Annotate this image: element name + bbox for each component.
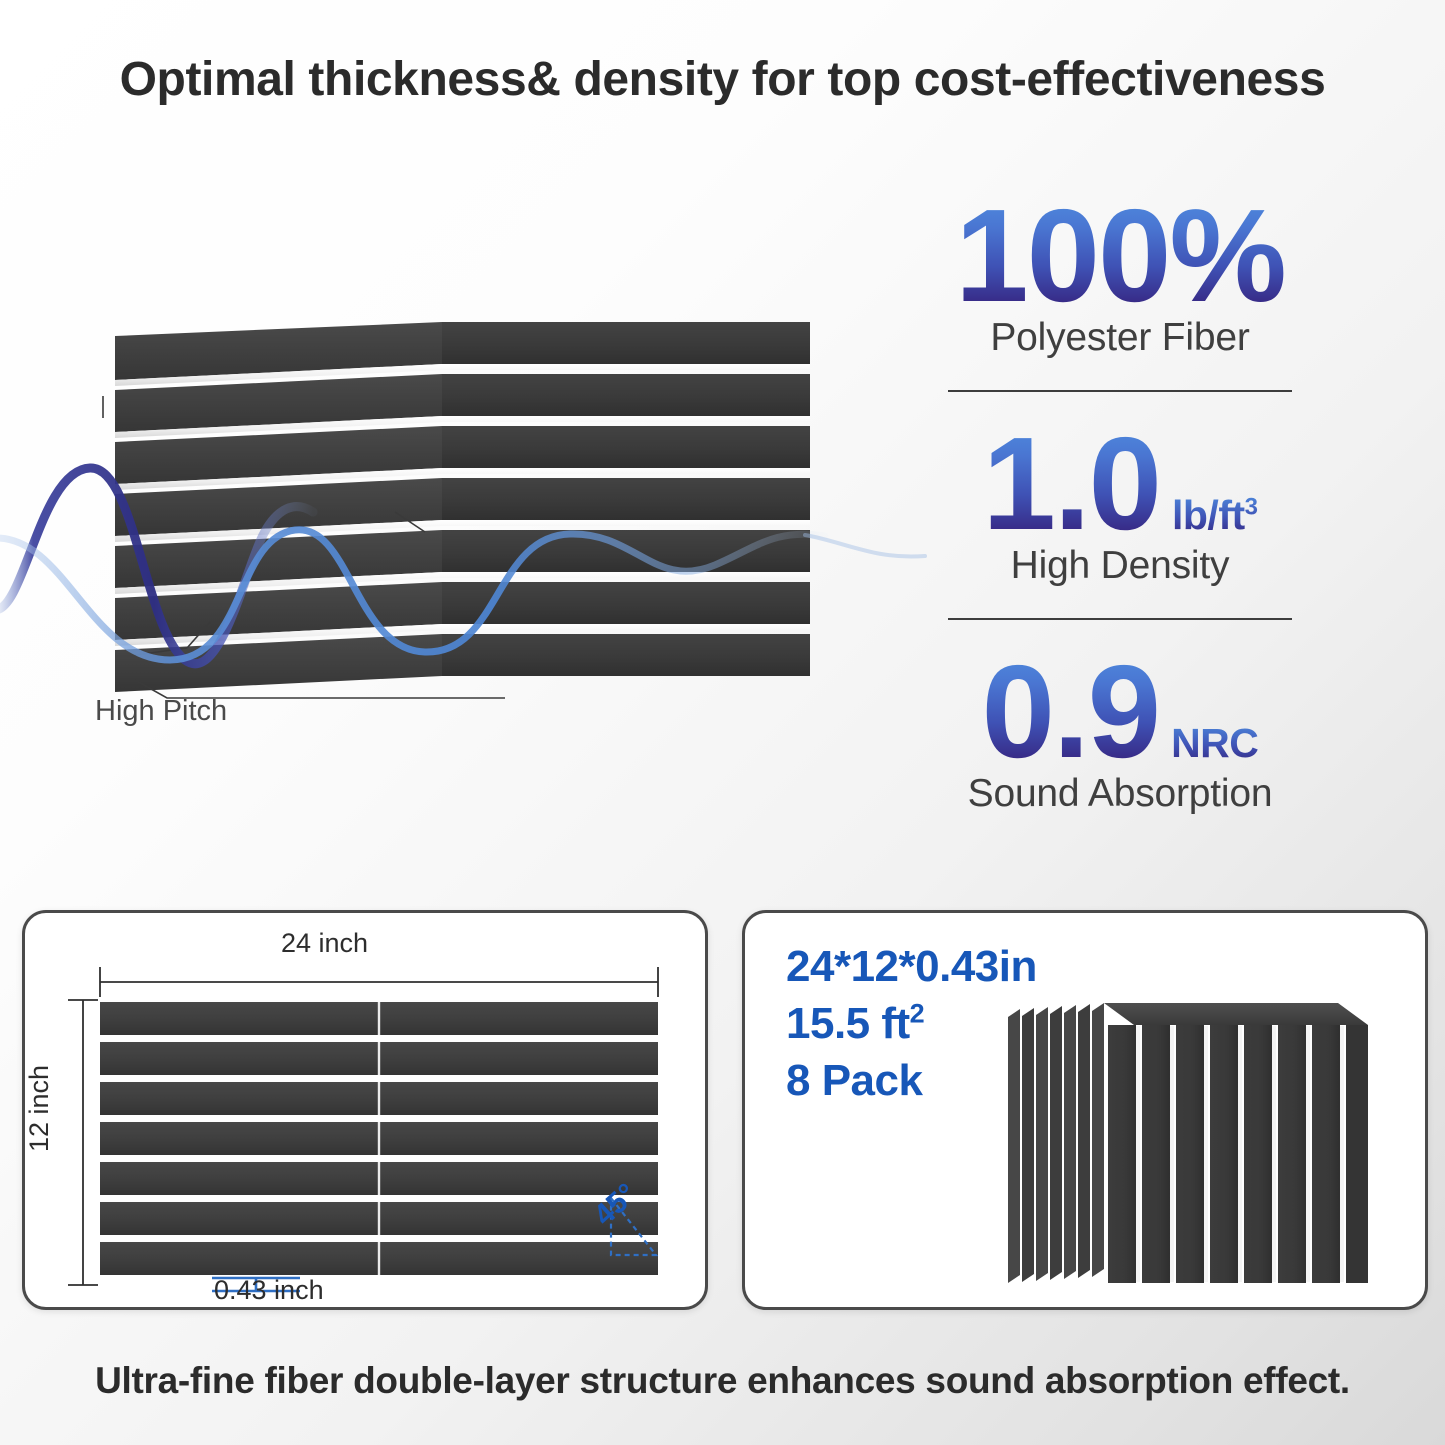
thickness-dimension-label: 0.43 inch — [214, 1275, 324, 1306]
stat-polyester-fiber: 100% Polyester Fiber — [930, 190, 1310, 360]
height-dimension-line — [68, 1000, 98, 1285]
hero-product-illustration: High Pitch Mid bass — [95, 300, 815, 690]
sound-wave-graphic — [0, 360, 995, 690]
stack-back-sheets — [1008, 1003, 1104, 1283]
stack-top-face — [1104, 1003, 1368, 1025]
spec-line-pack-count: 8 Pack — [786, 1052, 1037, 1109]
width-dimension-label: 24 inch — [281, 928, 368, 959]
spec-coverage-superscript: 2 — [910, 999, 925, 1029]
panel-stack-illustration — [1008, 995, 1408, 1295]
stat-unit-superscript: 3 — [1245, 493, 1258, 520]
stat-unit: lb/ft3 — [1172, 492, 1258, 539]
panel-dimensions-diagram: 45° — [60, 955, 700, 1300]
height-dimension-label: 12 inch — [24, 1065, 55, 1152]
stat-divider-2 — [948, 618, 1292, 620]
spec-text-block: 24*12*0.43in 15.5 ft2 8 Pack — [786, 938, 1037, 1110]
stat-value-row: 0.9 NRC — [930, 646, 1310, 778]
page-title: Optimal thickness& density for top cost-… — [0, 52, 1445, 107]
stat-unit-text: lb/ft — [1172, 492, 1245, 538]
spec-line-dimensions: 24*12*0.43in — [786, 938, 1037, 995]
stat-unit: NRC — [1171, 720, 1258, 767]
footer-caption: Ultra-fine fiber double-layer structure … — [0, 1360, 1445, 1402]
stat-unit-percent: % — [1169, 190, 1284, 322]
stat-value: 100 — [955, 190, 1169, 322]
width-dimension-line — [100, 967, 658, 997]
stat-caption: Sound Absorption — [930, 772, 1310, 816]
spec-coverage-text: 15.5 ft — [786, 999, 910, 1048]
stat-unit-text: NRC — [1171, 720, 1258, 766]
stat-value: 0.9 — [982, 646, 1160, 778]
panel-slat-rows — [100, 1002, 658, 1275]
spec-line-coverage: 15.5 ft2 — [786, 995, 1037, 1052]
stat-value-row: 100% — [930, 190, 1310, 322]
label-high-pitch: High Pitch — [95, 695, 227, 728]
stat-value-row: 1.0 lb/ft3 — [930, 418, 1310, 550]
stat-sound-absorption: 0.9 NRC Sound Absorption — [930, 646, 1310, 816]
stat-divider-1 — [948, 390, 1292, 392]
specs-panel: 100% Polyester Fiber 1.0 lb/ft3 High Den… — [930, 190, 1310, 816]
stat-value: 1.0 — [983, 418, 1161, 550]
stat-high-density: 1.0 lb/ft3 High Density — [930, 418, 1310, 588]
